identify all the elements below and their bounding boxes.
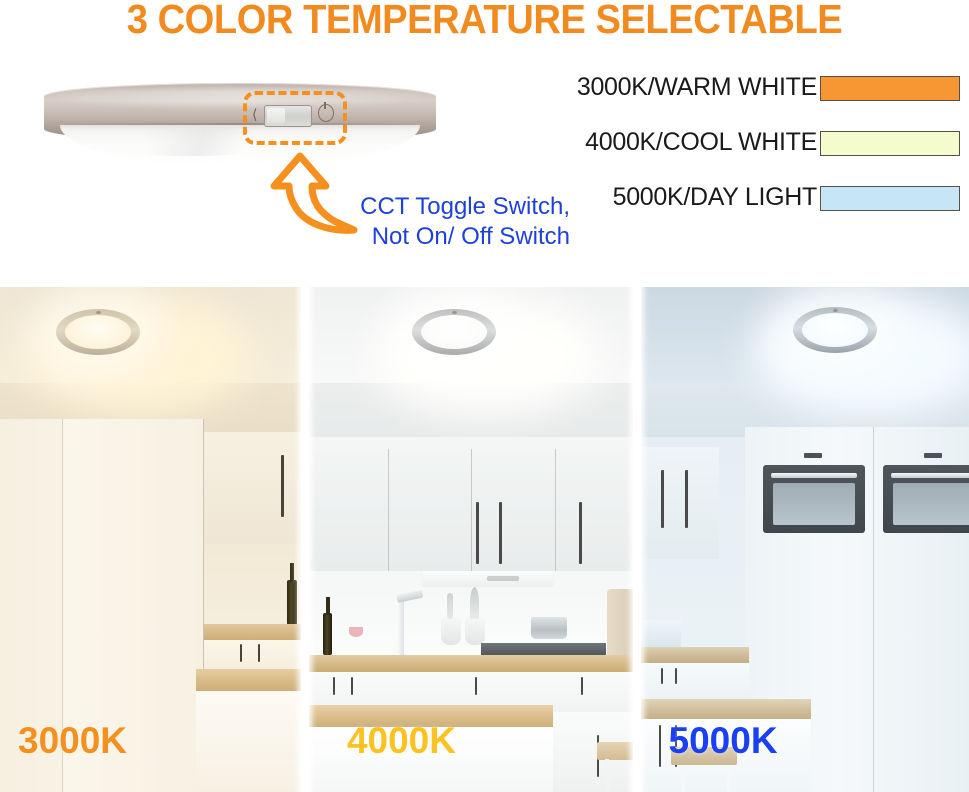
utensil-holder-cool-1 — [441, 617, 461, 645]
pane-divider-1 — [301, 287, 309, 792]
legend-row-4000k: 4000K/COOL WHITE — [560, 125, 969, 180]
pane-divider-2 — [633, 287, 641, 792]
lower-handle-cool-3 — [475, 677, 477, 695]
oven-display-day-1 — [804, 453, 822, 458]
upper-seam-cool-2 — [471, 449, 472, 571]
legend-label-4000k: 4000K/COOL WHITE — [585, 125, 817, 159]
legend-label-5000k: 5000K/DAY LIGHT — [613, 180, 817, 214]
pane-tag-4000k: 4000K — [347, 720, 456, 762]
lower-handle-day-3 — [659, 725, 661, 767]
lower-handle-day-2 — [675, 668, 677, 684]
pane-tag-3000k: 3000K — [18, 720, 127, 762]
legend-label-3000k: 3000K/WARM WHITE — [577, 70, 817, 104]
utensils-cool-1 — [447, 593, 453, 619]
cabinet-handle-warm — [281, 455, 284, 517]
upper-cabinet-warm — [204, 432, 301, 544]
island-counter-warm — [196, 669, 301, 691]
light-fixture-photo — [44, 83, 436, 167]
product-infographic: 3 COLOR TEMPERATURE SELECTABLE ⟨ CCT Tog… — [0, 0, 969, 792]
upper-handle-cool-2 — [499, 502, 502, 564]
lower-handle-cool-2 — [351, 677, 353, 695]
bar-stool-leg-cool-1 — [605, 759, 609, 792]
cct-callout-text: CCT Toggle Switch, Not On/ Off Switch — [330, 192, 570, 252]
wine-bottle-warm — [287, 580, 297, 625]
upper-cabinet-day — [641, 447, 719, 559]
chevron-left-icon: ⟨ — [252, 105, 261, 123]
upper-seam-cool-1 — [388, 449, 389, 571]
upper-handle-cool-1 — [476, 502, 479, 564]
pane-3000k: 3000K — [0, 287, 301, 792]
light-glow-warm — [22, 295, 252, 415]
kitchen-comparison-strip: 3000K — [0, 287, 969, 792]
bar-stool-leg-day-2 — [727, 765, 731, 792]
color-temperature-legend: 3000K/WARM WHITE 4000K/COOL WHITE 5000K/… — [560, 70, 969, 235]
wine-bottle-cool — [323, 613, 332, 655]
lower-cabinets-day — [641, 663, 749, 703]
upper-seam-cool-3 — [555, 449, 556, 571]
pane-4000k: 4000K — [309, 287, 633, 792]
range-hood-controls-cool — [487, 576, 519, 581]
oven-display-day-2 — [924, 453, 942, 458]
legend-row-5000k: 5000K/DAY LIGHT — [560, 180, 969, 235]
drawer-handle-warm-1 — [240, 644, 242, 662]
upper-handle-day-2 — [685, 470, 688, 528]
page-title: 3 COLOR TEMPERATURE SELECTABLE — [34, 0, 935, 43]
lower-handle-cool-4 — [581, 677, 583, 695]
lower-handle-day-1 — [661, 668, 663, 684]
legend-swatch-4000k — [820, 131, 960, 156]
pane-tag-5000k: 5000K — [669, 720, 778, 762]
callout-line-2: Not On/ Off Switch — [330, 222, 570, 252]
bar-stool-seat-cool — [597, 742, 633, 760]
cutting-board-cool — [607, 589, 633, 657]
legend-swatch-3000k — [820, 76, 960, 101]
legend-row-3000k: 3000K/WARM WHITE — [560, 70, 969, 125]
cct-toggle-switch[interactable] — [264, 105, 312, 127]
lower-handle-cool-1 — [333, 677, 335, 695]
oven-handle-day-1 — [771, 473, 857, 478]
pane-5000k: 5000K — [641, 287, 969, 792]
back-counter-cool — [309, 655, 633, 672]
upper-handle-cool-3 — [579, 502, 582, 564]
ceiling-lamp-day — [793, 307, 877, 353]
ceiling-lamp-warm — [56, 309, 140, 355]
back-counter-day — [641, 647, 749, 663]
oven-window-day-1 — [773, 483, 855, 525]
bar-stool-leg-day-1 — [681, 765, 685, 792]
oven-window-day-2 — [893, 483, 969, 525]
callout-line-1: CCT Toggle Switch, — [330, 192, 570, 222]
drawer-handle-warm-2 — [258, 644, 260, 662]
upper-counter-warm — [204, 624, 301, 640]
faucet-cool — [397, 599, 404, 661]
wine-bottle-neck-warm — [290, 563, 294, 582]
ceiling-lamp-cool — [412, 309, 496, 355]
cabinetry-seam-day — [873, 427, 874, 792]
wine-glass-cool — [349, 627, 363, 637]
wine-bottle-neck-cool — [326, 597, 330, 615]
oven-handle-day-2 — [891, 473, 969, 478]
pot-cool — [531, 617, 567, 639]
upper-handle-day-1 — [661, 470, 664, 528]
legend-swatch-5000k — [820, 186, 960, 211]
utensil-holder-cool-2 — [465, 617, 485, 645]
power-icon — [318, 104, 334, 122]
light-glow-cool — [371, 293, 601, 417]
island-base-warm — [196, 691, 301, 792]
island-counter-day — [641, 699, 811, 719]
whisk-cool — [470, 587, 479, 619]
